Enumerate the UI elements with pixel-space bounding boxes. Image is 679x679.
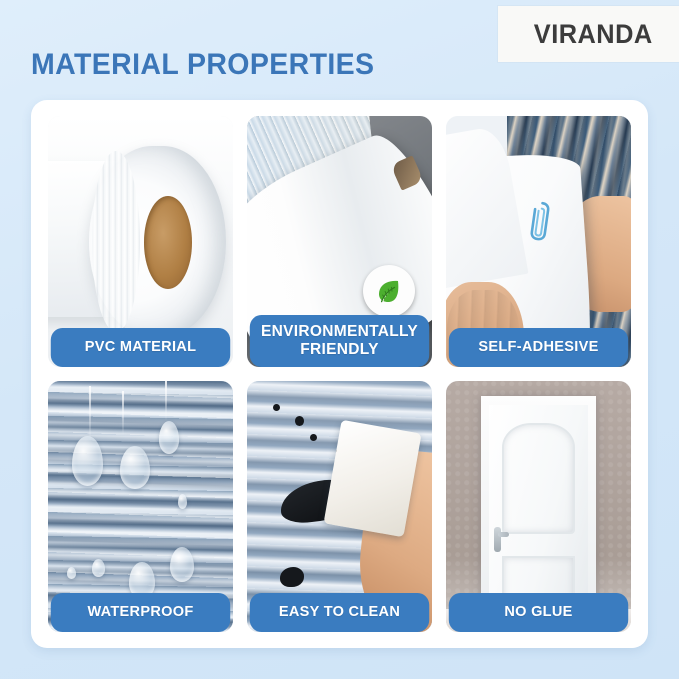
- features-grid: PVC MATERIAL: [48, 116, 631, 632]
- feature-label-self-adhesive: SELF-ADHESIVE: [449, 328, 628, 367]
- feature-cell-pvc-material[interactable]: PVC MATERIAL: [48, 116, 233, 367]
- feature-label-environmentally-friendly: ENVIRONMENTALLY FRIENDLY: [250, 315, 429, 367]
- feature-cell-easy-to-clean[interactable]: EASY TO CLEAN: [247, 381, 432, 632]
- feature-label-no-glue: NO GLUE: [449, 593, 628, 632]
- feature-label-easy-to-clean: EASY TO CLEAN: [250, 593, 429, 632]
- door-handle: [494, 527, 501, 552]
- leaf-icon: [373, 275, 405, 307]
- brand-logo-box: VIRANDA: [498, 6, 679, 62]
- feature-label-waterproof: WATERPROOF: [51, 593, 230, 632]
- feature-label-pvc-material: PVC MATERIAL: [51, 328, 230, 367]
- feature-cell-waterproof[interactable]: WATERPROOF: [48, 381, 233, 632]
- feature-cell-self-adhesive[interactable]: SELF-ADHESIVE: [446, 116, 631, 367]
- brand-name: VIRANDA: [534, 19, 653, 50]
- leaf-badge: [363, 265, 415, 317]
- page-title: MATERIAL PROPERTIES: [31, 48, 374, 82]
- label-line-2: FRIENDLY: [254, 341, 426, 358]
- feature-cell-no-glue[interactable]: NO GLUE: [446, 381, 631, 632]
- label-line-1: ENVIRONMENTALLY: [261, 323, 418, 340]
- feature-cell-environmentally-friendly[interactable]: ENVIRONMENTALLY FRIENDLY: [247, 116, 432, 367]
- features-card: PVC MATERIAL: [31, 100, 648, 648]
